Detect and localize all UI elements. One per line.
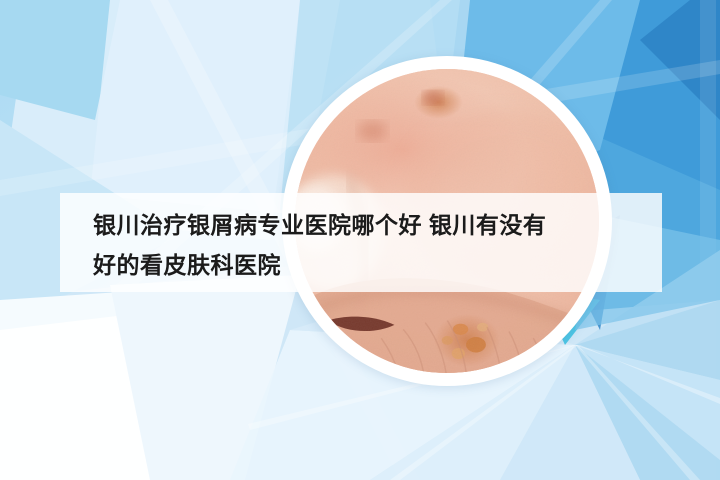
page-title: 银川治疗银屑病专业医院哪个好 银川有没有 好的看皮肤科医院 [93,205,653,285]
poster-canvas: 银川治疗银屑病专业医院哪个好 银川有没有 好的看皮肤科医院 [0,0,720,480]
